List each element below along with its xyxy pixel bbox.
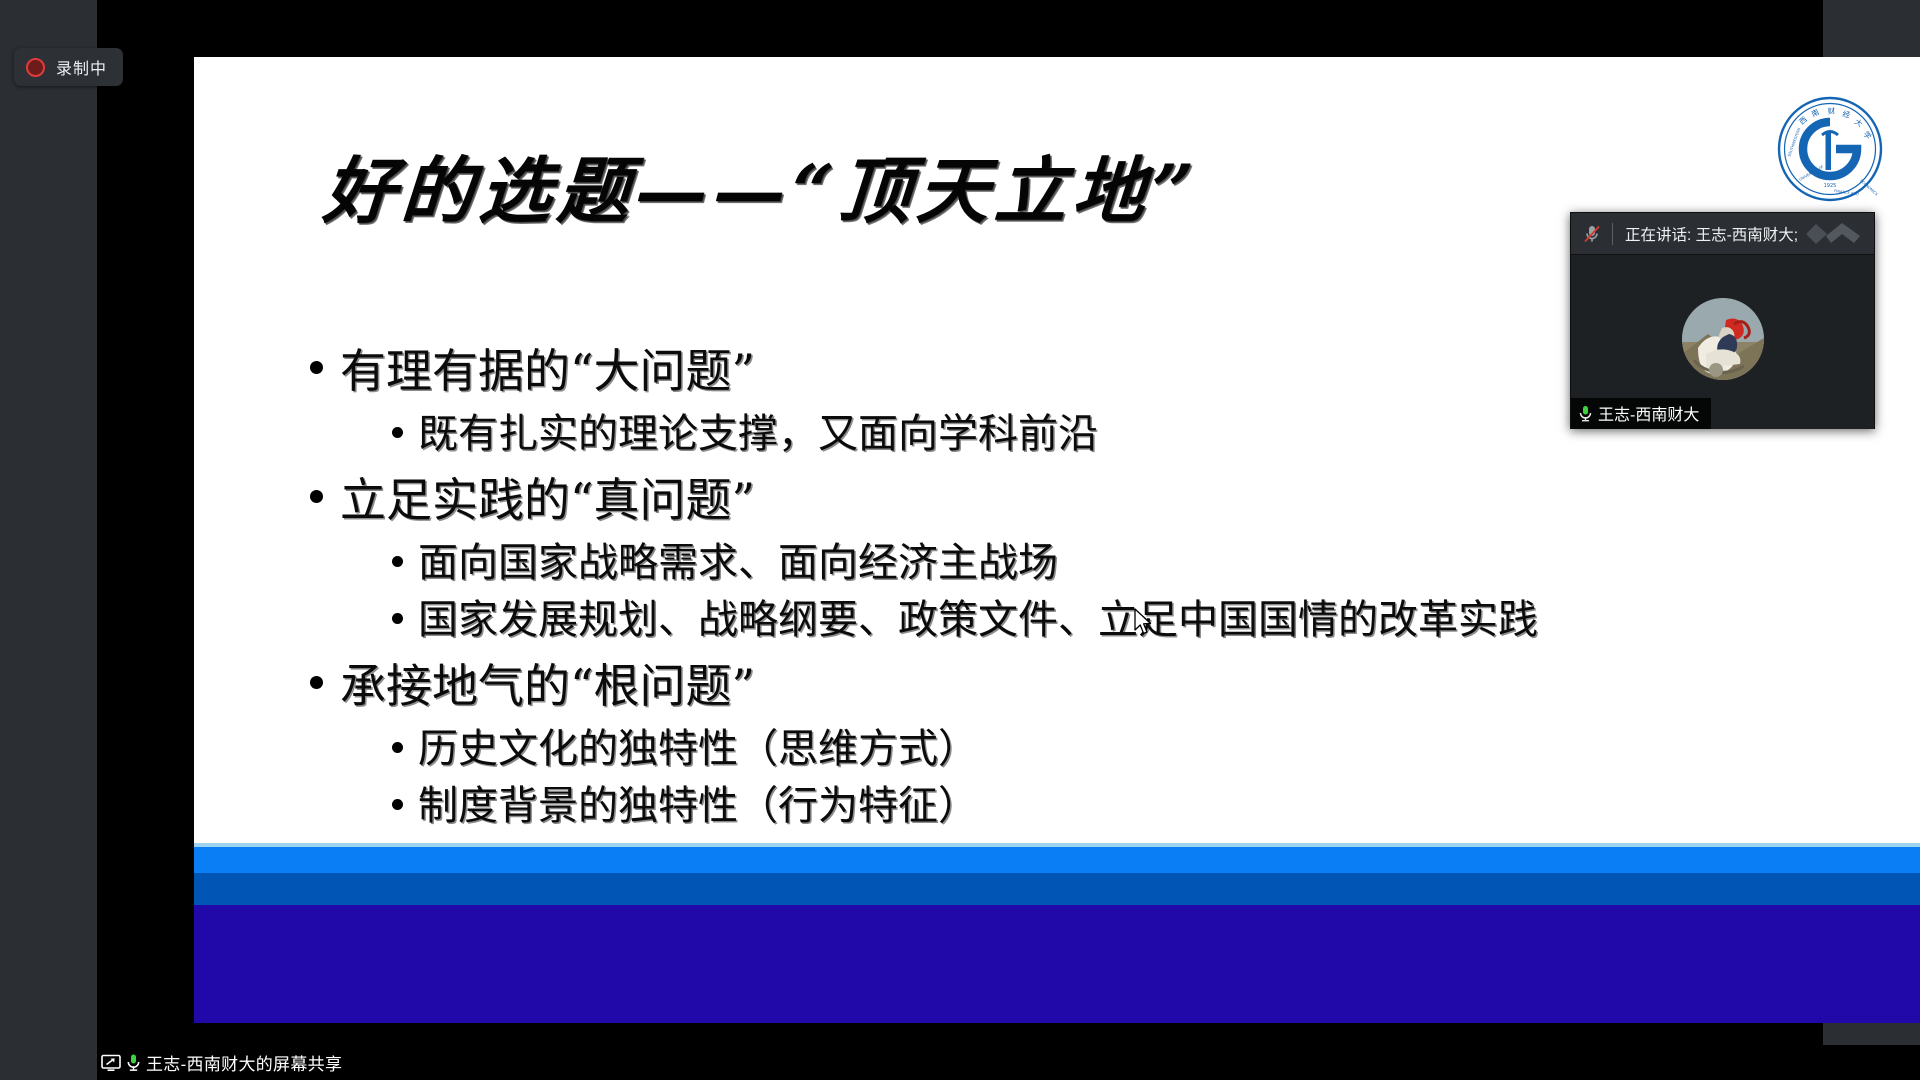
slide-band-medium-blue	[194, 873, 1920, 905]
microphone-on-icon	[126, 1053, 141, 1072]
zoom-meeting-window: 西 南 财 经 大 学 SOUTHWESTERN UNIVERSITY OF F…	[0, 0, 1920, 1080]
slide-title: 好的选题——“顶天立地”	[320, 132, 1202, 237]
participant-name: 王志-西南财大	[1598, 401, 1699, 425]
shared-content-stage: 西 南 财 经 大 学 SOUTHWESTERN UNIVERSITY OF F…	[97, 0, 1823, 1052]
presentation-slide: 西 南 财 经 大 学 SOUTHWESTERN UNIVERSITY OF F…	[194, 57, 1920, 1023]
bullet-level2-text: 国家发展规划、战略纲要、政策文件、立足中国国情的改革实践	[418, 592, 1538, 650]
bullet-level2: 历史文化的独特性（思维方式）	[306, 721, 1906, 779]
bullet-group: 立足实践的“真问题” 面向国家战略需求、面向经济主战场 国家发展规划、战略纲要、…	[306, 466, 1906, 650]
screen-share-icon	[101, 1054, 121, 1072]
screen-share-status-bar: 王志-西南财大的屏幕共享	[0, 1045, 1920, 1080]
bullet-level2-text: 历史文化的独特性（思维方式）	[418, 721, 978, 779]
bullet-level2: 面向国家战略需求、面向经济主战场	[306, 535, 1906, 593]
record-circle-icon	[26, 58, 45, 77]
bullet-dot-icon	[310, 676, 323, 689]
bullet-level1-text: 立足实践的“真问题”	[340, 466, 755, 535]
bullet-level1: 承接地气的“根问题”	[306, 652, 1906, 721]
bullet-dot-icon	[310, 490, 323, 503]
self-video-panel[interactable]: 正在讲话: 王志-西南财大;	[1570, 212, 1875, 429]
slide-band-bright-blue	[194, 847, 1920, 873]
bullet-dot-icon	[310, 361, 323, 374]
bullet-level2-text: 既有扎实的理论支撑，又面向学科前沿	[418, 406, 1098, 464]
svg-text:1925: 1925	[1824, 183, 1837, 189]
chevrons-icon[interactable]	[1804, 220, 1866, 247]
header-divider	[1612, 223, 1613, 245]
microphone-on-icon	[1578, 405, 1593, 422]
bullet-level1-text: 有理有据的“大问题”	[340, 337, 755, 406]
svg-text:学: 学	[1861, 129, 1874, 142]
status-bar-left-pad	[0, 1045, 97, 1080]
recording-indicator[interactable]: 录制中	[14, 48, 123, 86]
bullet-level2: 国家发展规划、战略纲要、政策文件、立足中国国情的改革实践	[306, 592, 1906, 650]
bullet-level1: 立足实践的“真问题”	[306, 466, 1906, 535]
video-panel-header[interactable]: 正在讲话: 王志-西南财大;	[1571, 213, 1874, 254]
recording-label: 录制中	[56, 55, 107, 79]
status-bar-items: 王志-西南财大的屏幕共享	[97, 1050, 342, 1075]
bullet-level1-text: 承接地气的“根问题”	[340, 652, 755, 721]
bullet-dot-icon	[392, 799, 403, 810]
bullet-dot-icon	[392, 742, 403, 753]
bullet-dot-icon	[392, 556, 403, 567]
bullet-level2: 制度背景的独特性（行为特征）	[306, 778, 1906, 836]
microphone-muted-icon	[1581, 223, 1603, 245]
speaking-status-label: 正在讲话: 王志-西南财大;	[1625, 223, 1797, 245]
bullet-group: 承接地气的“根问题” 历史文化的独特性（思维方式） 制度背景的独特性（行为特征）	[306, 652, 1906, 836]
participant-name-badge: 王志-西南财大	[1571, 398, 1711, 429]
svg-text:FINANCE AND: FINANCE AND	[1834, 189, 1859, 196]
slide-band-deep-indigo	[194, 905, 1920, 1023]
svg-text:财: 财	[1827, 105, 1836, 116]
bullet-level2-text: 制度背景的独特性（行为特征）	[418, 778, 978, 836]
svg-text:经: 经	[1842, 108, 1852, 120]
university-logo-icon: 西 南 财 经 大 学 SOUTHWESTERN UNIVERSITY OF F…	[1776, 95, 1884, 203]
bullet-level2-text: 面向国家战略需求、面向经济主战场	[418, 535, 1058, 593]
screen-share-status-text: 王志-西南财大的屏幕共享	[146, 1050, 342, 1075]
video-tile[interactable]: 王志-西南财大	[1571, 254, 1874, 429]
avatar	[1682, 298, 1764, 380]
bullet-dot-icon	[392, 427, 403, 438]
bullet-dot-icon	[392, 613, 403, 624]
